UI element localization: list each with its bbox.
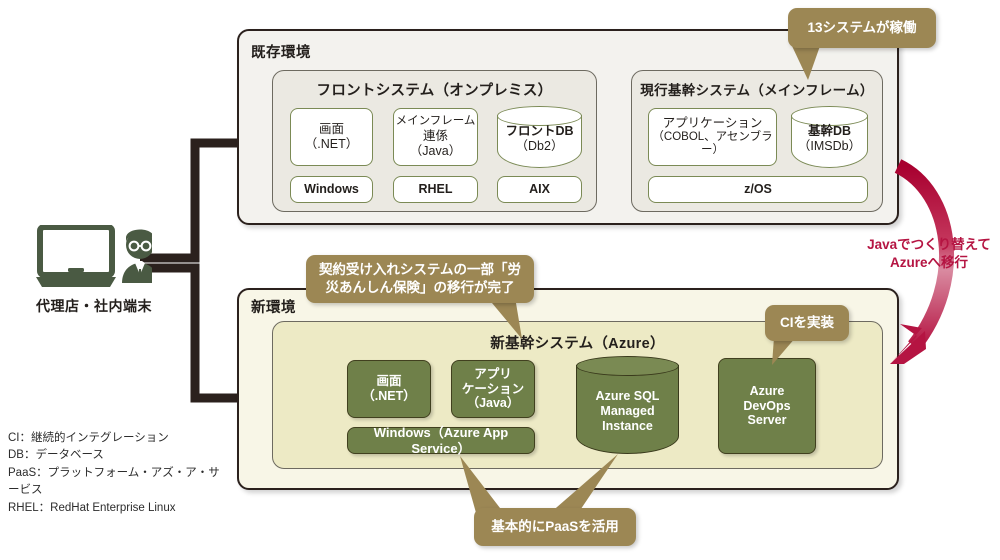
core-application-line1: アプリケーション xyxy=(649,116,776,131)
core-db-label: 基幹DB （IMSDb） xyxy=(791,124,868,154)
callout-ci-implemented: CIを実装 xyxy=(765,305,849,341)
azure-sql-top xyxy=(576,356,679,376)
terminal-icon-group xyxy=(36,225,152,293)
new-application-line1: アプリ xyxy=(462,367,524,382)
connector-to-new xyxy=(140,268,243,398)
front-db-line1: フロントDB xyxy=(497,124,582,139)
new-application-line3: （Java） xyxy=(462,396,524,411)
new-screen-line1: 画面 xyxy=(362,374,415,389)
front-db-cylinder: フロントDB （Db2） xyxy=(497,106,582,168)
azure-sql-line2: Managed xyxy=(576,404,679,419)
core-db-line2: （IMSDb） xyxy=(791,139,868,154)
existing-environment-title: 既存環境 xyxy=(251,41,311,62)
mainframe-link-box: メインフレーム 連係 （Java） xyxy=(393,108,478,166)
callout-paas-usage: 基本的にPaaSを活用 xyxy=(474,508,636,546)
new-screen-box: 画面 （.NET） xyxy=(347,360,431,418)
front-db-label: フロントDB （Db2） xyxy=(497,124,582,154)
front-screen-box: 画面 （.NET） xyxy=(290,108,373,166)
migration-arrow-label: Javaでつくり替えて Azureへ移行 xyxy=(855,236,1000,271)
azure-sql-label: Azure SQL Managed Instance xyxy=(576,389,679,434)
migration-label-line1: Javaでつくり替えて xyxy=(855,236,1000,254)
front-platform-windows: Windows xyxy=(290,176,373,203)
migration-done-line2: 災あんしん保険」の移行が完了 xyxy=(319,279,521,297)
migration-label-line2: Azureへ移行 xyxy=(855,254,1000,272)
front-screen-line1: 画面 xyxy=(305,122,358,137)
mainframe-link-line2: 連係 xyxy=(396,129,476,144)
azure-sql-line3: Instance xyxy=(576,419,679,434)
callout-migration-done: 契約受け入れシステムの一部「労 災あんしん保険」の移行が完了 xyxy=(306,255,534,303)
azure-sql-cylinder: Azure SQL Managed Instance xyxy=(576,356,679,454)
front-system-title: フロントシステム（オンプレミス） xyxy=(273,79,596,100)
core-application-line2: （COBOL、アセンブラー） xyxy=(649,131,776,158)
legend-item-rhel: RHEL：RedHat Enterprise Linux xyxy=(8,500,228,517)
core-application-box: アプリケーション （COBOL、アセンブラー） xyxy=(648,108,777,166)
azure-sql-line1: Azure SQL xyxy=(576,389,679,404)
legend-block: CI：継続的インテグレーション DB：データベース PaaS：プラットフォーム・… xyxy=(8,430,228,517)
callout-systems-running: 13システムが稼働 xyxy=(788,8,936,48)
laptop-person-icon xyxy=(36,225,152,293)
diagram-canvas: Javaでつくり替えて Azureへ移行 代理店・社内端末 既存環境 フロントシ… xyxy=(0,0,1000,560)
legend-item-db: DB：データベース xyxy=(8,447,228,464)
new-environment-title: 新環境 xyxy=(251,296,296,317)
legend-item-ci: CI：継続的インテグレーション xyxy=(8,430,228,447)
core-db-line1: 基幹DB xyxy=(791,124,868,139)
front-platform-aix: AIX xyxy=(497,176,582,203)
legend-item-paas: PaaS：プラットフォーム・アズ・ア・サービス xyxy=(8,465,228,500)
mainframe-link-line3: （Java） xyxy=(396,144,476,159)
core-db-cylinder: 基幹DB （IMSDb） xyxy=(791,106,868,168)
new-application-box: アプリ ケーション （Java） xyxy=(451,360,535,418)
azure-devops-line3: Server xyxy=(743,413,790,428)
core-os-box: z/OS xyxy=(648,176,868,203)
new-screen-line2: （.NET） xyxy=(362,389,415,404)
front-platform-rhel: RHEL xyxy=(393,176,478,203)
connector-to-existing xyxy=(140,143,243,258)
front-db-line2: （Db2） xyxy=(497,139,582,154)
azure-devops-line2: DevOps xyxy=(743,399,790,414)
front-screen-line2: （.NET） xyxy=(305,137,358,152)
mainframe-link-line1: メインフレーム xyxy=(396,115,476,129)
migration-done-line1: 契約受け入れシステムの一部「労 xyxy=(319,261,521,279)
terminal-label: 代理店・社内端末 xyxy=(18,296,170,316)
new-application-line2: ケーション xyxy=(462,382,524,397)
azure-devops-line1: Azure xyxy=(743,384,790,399)
